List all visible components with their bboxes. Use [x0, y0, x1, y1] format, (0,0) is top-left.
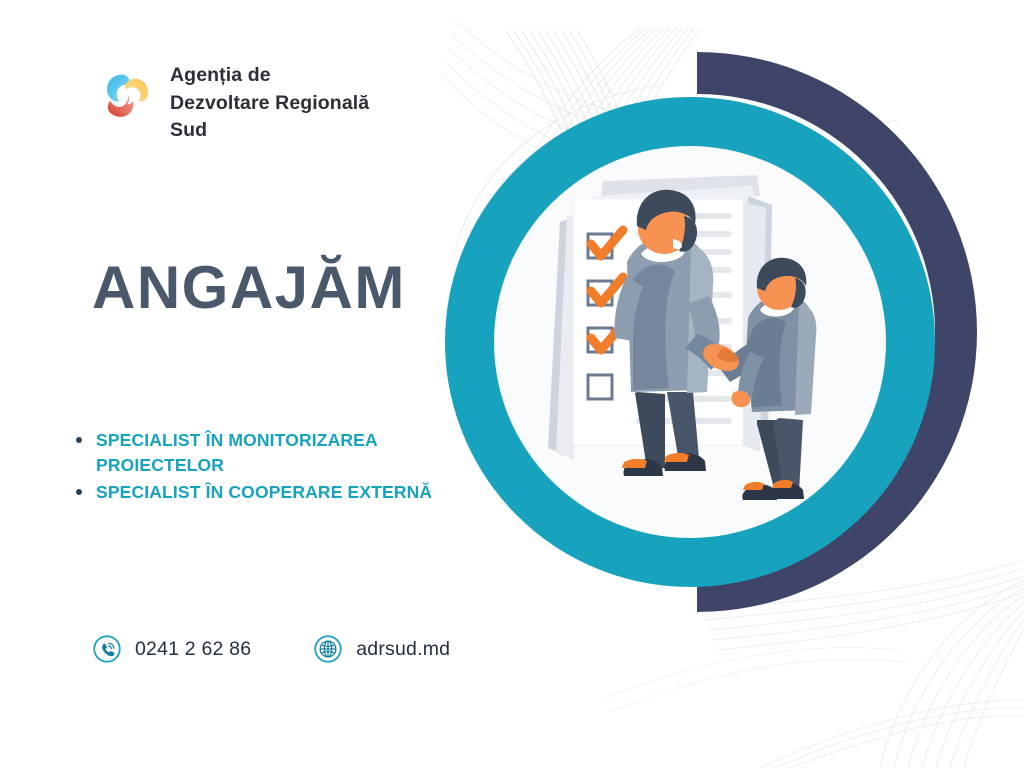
contact-phone[interactable]: 0241 2 62 86 — [92, 634, 251, 664]
website-address: adrsud.md — [356, 638, 450, 661]
poster-canvas: Agenția de Dezvoltare Regională Sud ANGA… — [0, 0, 1024, 768]
page-title: ANGAJĂM — [92, 258, 406, 318]
checklist-boxes — [588, 234, 612, 399]
person-left — [615, 190, 740, 476]
paper-stack — [548, 175, 772, 460]
phone-icon — [92, 634, 122, 664]
list-item: SPECIALIST ÎN COOPERARE EXTERNĂ — [70, 480, 450, 505]
globe-icon — [313, 634, 343, 664]
brand-name: Agenția de Dezvoltare Regională Sud — [170, 62, 369, 145]
checkmarks — [591, 230, 623, 350]
paper-text-lines — [636, 213, 732, 424]
person-right — [718, 258, 816, 500]
navy-c-arc — [697, 52, 977, 612]
illustration-backdrop — [494, 146, 886, 538]
contact-bar: 0241 2 62 86 adrsud.md — [92, 634, 450, 664]
vacancy-list: SPECIALIST ÎN MONITORIZAREA PROIECTELOR … — [70, 428, 450, 508]
list-item: SPECIALIST ÎN MONITORIZAREA PROIECTELOR — [70, 428, 450, 478]
teal-ring — [470, 122, 910, 562]
phone-number: 0241 2 62 86 — [135, 638, 251, 661]
contact-website[interactable]: adrsud.md — [313, 634, 450, 664]
adr-sud-swirl-logo-icon — [100, 68, 154, 122]
brand-logo[interactable]: Agenția de Dezvoltare Regională Sud — [100, 62, 369, 145]
